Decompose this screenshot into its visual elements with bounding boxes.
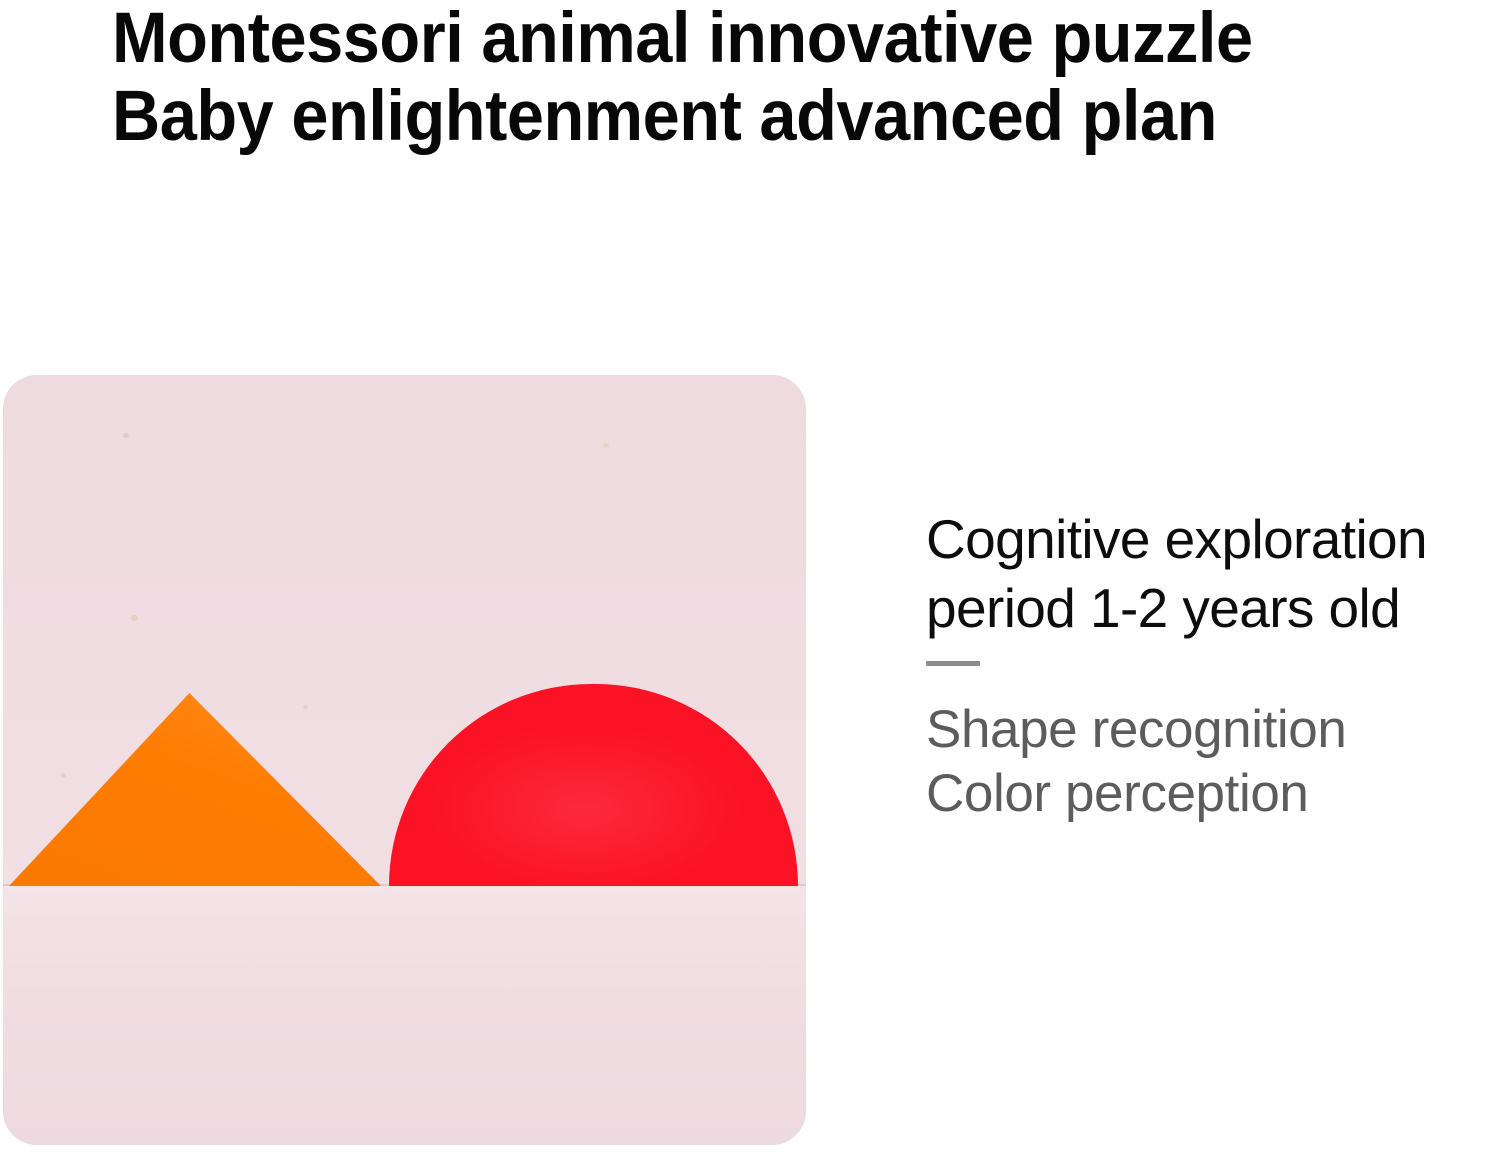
- semicircle-piece-shading: [389, 684, 798, 886]
- board-speck: [131, 615, 138, 621]
- product-photo: [3, 375, 806, 1145]
- board-speck: [303, 705, 308, 709]
- info-block: Cognitive exploration period 1-2 years o…: [926, 505, 1500, 826]
- board-speck: [61, 773, 66, 778]
- board-speck: [123, 433, 129, 438]
- page-title: Montessori animal innovative puzzle Baby…: [112, 0, 1442, 156]
- page-title-line-2: Baby enlightenment advanced plan: [112, 78, 1362, 156]
- board-speck: [603, 443, 609, 448]
- info-divider: [926, 661, 980, 666]
- info-title-line-2: period 1-2 years old: [926, 574, 1500, 643]
- page-title-line-1: Montessori animal innovative puzzle: [112, 0, 1362, 78]
- info-feature-color-perception: Color perception: [926, 762, 1500, 826]
- puzzle-board-lower: [3, 886, 806, 1145]
- info-title-line-1: Cognitive exploration: [926, 505, 1500, 574]
- info-feature-shape-recognition: Shape recognition: [926, 698, 1500, 762]
- semicircle-piece: [389, 684, 798, 886]
